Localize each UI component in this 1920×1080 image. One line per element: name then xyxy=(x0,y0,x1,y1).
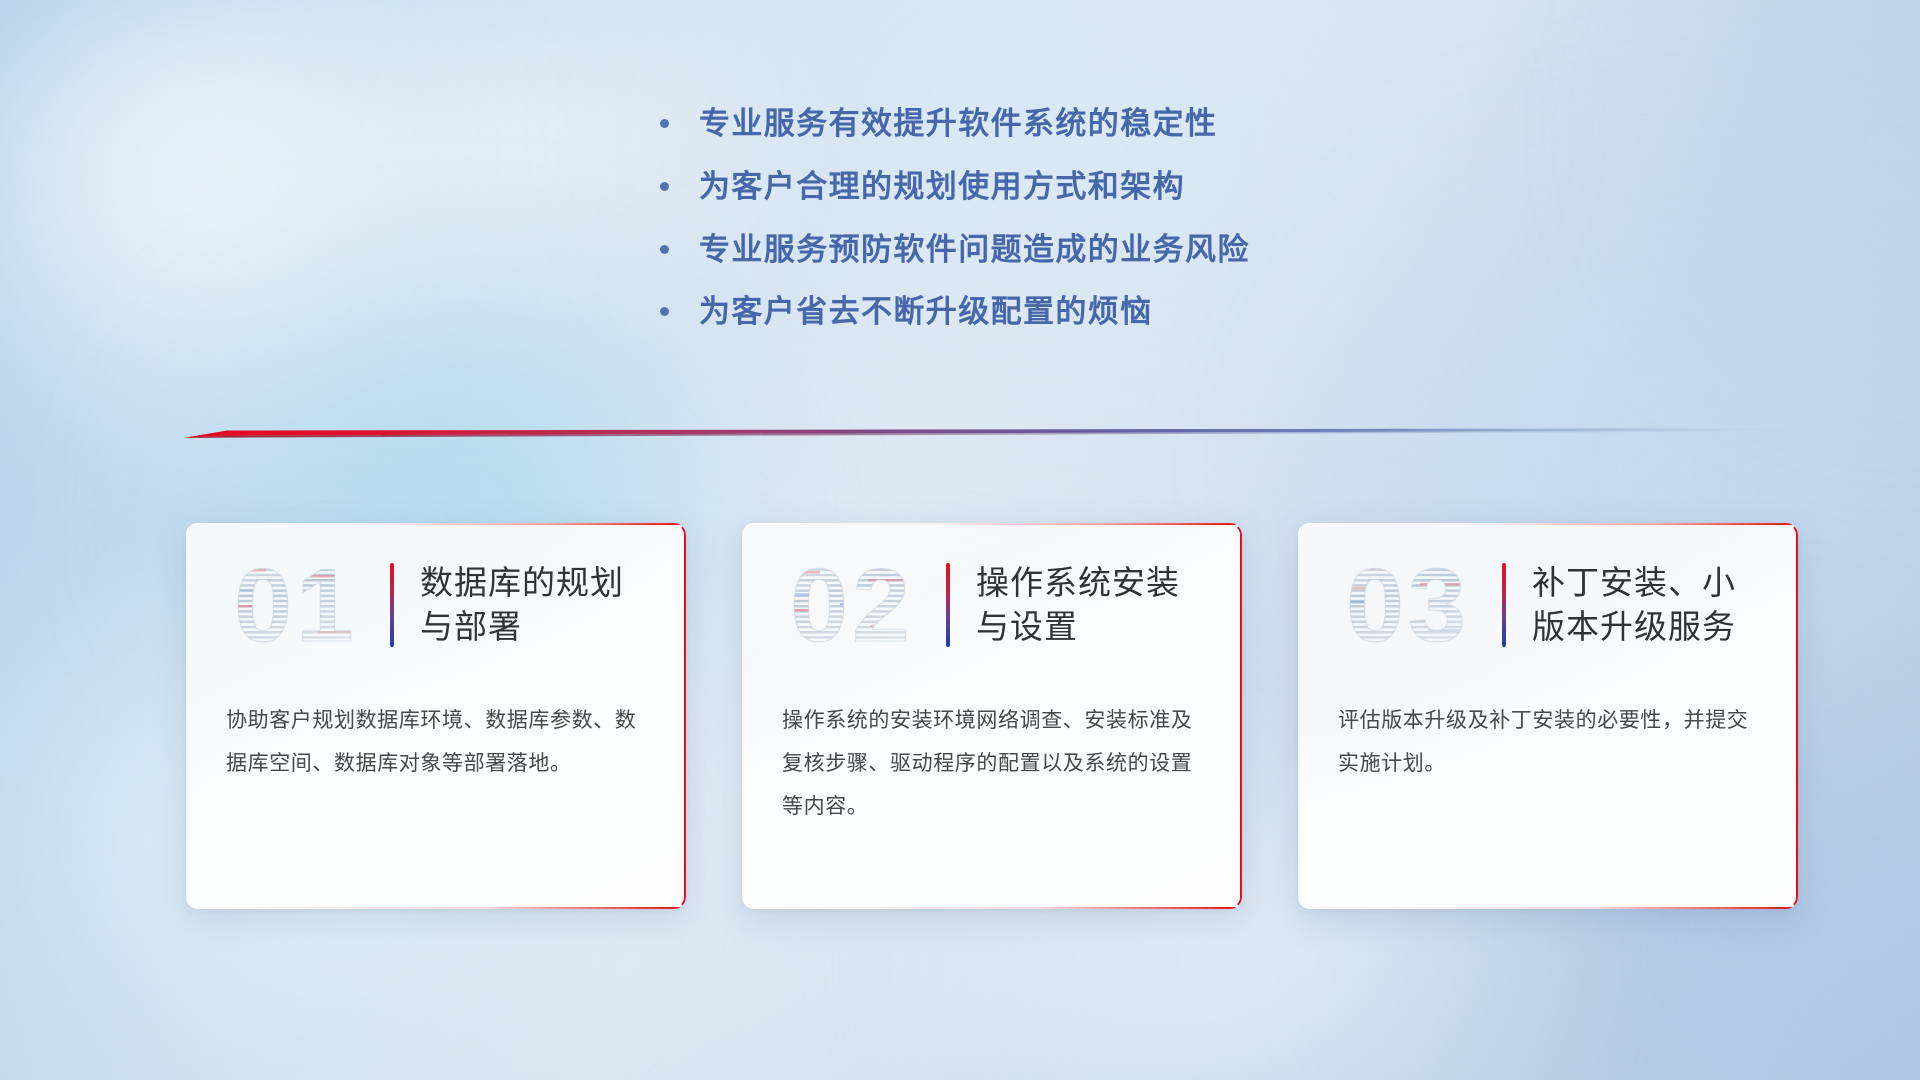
bullet-dot-icon xyxy=(660,182,669,191)
list-item: 为客户合理的规划使用方式和架构 xyxy=(660,168,1480,207)
card-accent-bar xyxy=(390,563,394,647)
card-accent-bar xyxy=(1502,563,1506,647)
card-number-watermark: 01 xyxy=(214,553,378,657)
bullet-dot-icon xyxy=(660,307,669,316)
card-header: 03 xyxy=(1298,545,1798,665)
card-header: 01 xyxy=(186,545,686,665)
bullet-text: 为客户合理的规划使用方式和架构 xyxy=(699,168,1185,207)
slide-canvas: 专业服务有效提升软件系统的稳定性 为客户合理的规划使用方式和架构 专业服务预防软… xyxy=(0,0,1920,1080)
list-item: 专业服务有效提升软件系统的稳定性 xyxy=(660,105,1480,144)
service-card[interactable]: 03 xyxy=(1298,523,1798,909)
card-header: 02 xyxy=(742,545,1242,665)
card-accent-bar xyxy=(946,563,950,647)
bullet-text: 专业服务预防软件问题造成的业务风险 xyxy=(699,231,1250,270)
card-description: 操作系统的安装环境网络调查、安装标准及复核步骤、驱动程序的配置以及系统的设置等内… xyxy=(782,699,1206,828)
bullet-dot-icon xyxy=(660,119,669,128)
bullet-dot-icon xyxy=(660,245,669,254)
card-number-watermark: 02 xyxy=(770,553,934,657)
card-border-top xyxy=(186,523,686,525)
service-card[interactable]: 01 xyxy=(186,523,686,909)
card-title: 补丁安装、小 版本升级服务 xyxy=(1532,561,1736,649)
service-card[interactable]: 02 xyxy=(742,523,1242,909)
card-border-top xyxy=(742,523,1242,525)
card-description: 协助客户规划数据库环境、数据库参数、数据库空间、数据库对象等部署落地。 xyxy=(226,699,650,785)
card-description: 评估版本升级及补丁安装的必要性，并提交实施计划。 xyxy=(1338,699,1762,785)
bullet-text: 为客户省去不断升级配置的烦恼 xyxy=(699,293,1153,332)
benefit-bullet-list: 专业服务有效提升软件系统的稳定性 为客户合理的规划使用方式和架构 专业服务预防软… xyxy=(660,105,1480,356)
bullet-text: 专业服务有效提升软件系统的稳定性 xyxy=(699,105,1217,144)
list-item: 为客户省去不断升级配置的烦恼 xyxy=(660,293,1480,332)
card-border-top xyxy=(1298,523,1798,525)
list-item: 专业服务预防软件问题造成的业务风险 xyxy=(660,231,1480,270)
card-number-watermark: 03 xyxy=(1326,553,1490,657)
card-title: 数据库的规划 与部署 xyxy=(420,561,624,649)
card-title: 操作系统安装 与设置 xyxy=(976,561,1180,649)
card-border-bottom xyxy=(742,907,1242,909)
card-border-bottom xyxy=(186,907,686,909)
service-card-row: 01 xyxy=(186,523,1798,909)
card-border-bottom xyxy=(1298,907,1798,909)
